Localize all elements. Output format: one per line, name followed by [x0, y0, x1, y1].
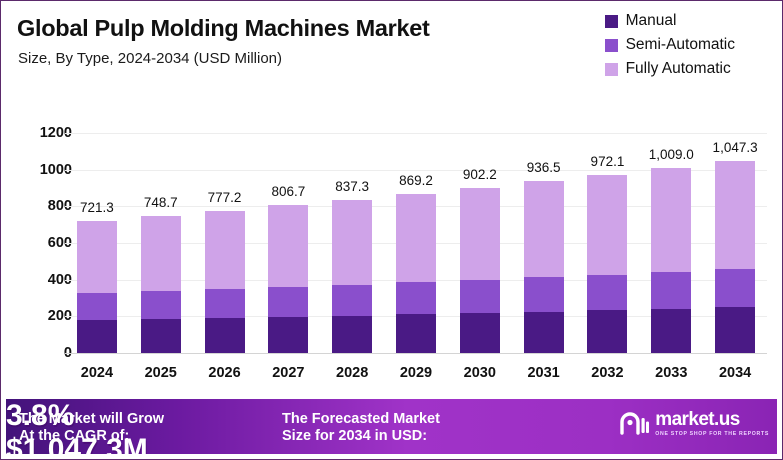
y-axis-tick-label: 800 [12, 198, 72, 214]
bar-value-label: 748.7 [144, 195, 178, 210]
y-axis-tick-label: 0 [12, 345, 72, 361]
bar-segment-manual[interactable] [651, 309, 691, 353]
legend-label-manual: Manual [626, 12, 677, 30]
bar-stack[interactable]: 806.7 [268, 205, 308, 353]
legend-item-fully-automatic: Fully Automatic [605, 57, 735, 81]
brand-logo[interactable]: market.us ONE STOP SHOP FOR THE REPORTS [619, 410, 769, 437]
bar-segment-semi-automatic[interactable] [205, 289, 245, 318]
bar-segment-semi-automatic[interactable] [587, 275, 627, 311]
y-axis-tick-label: 1000 [12, 162, 72, 178]
bar-segment-semi-automatic[interactable] [460, 280, 500, 313]
bar-segment-semi-automatic[interactable] [77, 293, 117, 320]
x-axis-tick-label: 2031 [512, 365, 576, 381]
bar-value-label: 1,047.3 [713, 140, 758, 155]
y-axis-tick-label: 600 [12, 235, 72, 251]
bar-segment-manual[interactable] [332, 316, 372, 353]
chart-plot-area: 020040060080010001200 721.3748.7777.2806… [1, 93, 783, 391]
y-axis-tick-label: 400 [12, 272, 72, 288]
legend-label-semi-automatic: Semi-Automatic [626, 36, 735, 54]
x-axis-tick-label: 2028 [320, 365, 384, 381]
bar-value-label: 721.3 [80, 200, 114, 215]
brand-tagline: ONE STOP SHOP FOR THE REPORTS [655, 431, 769, 437]
cagr-label: The Market will Grow At the CAGR of: [19, 411, 164, 444]
bar-segment-fully-automatic[interactable] [205, 211, 245, 290]
x-axis-tick-label: 2034 [703, 365, 767, 381]
x-axis-tick-label: 2024 [65, 365, 129, 381]
legend-swatch-fully-automatic [605, 63, 618, 76]
bar-value-label: 806.7 [271, 184, 305, 199]
bar-segment-semi-automatic[interactable] [524, 277, 564, 311]
bar-segment-manual[interactable] [77, 320, 117, 353]
x-axis-tick-label: 2032 [576, 365, 640, 381]
bar-segment-fully-automatic[interactable] [651, 168, 691, 272]
x-axis-tick-label: 2027 [256, 365, 320, 381]
bar-segment-semi-automatic[interactable] [332, 285, 372, 316]
chart-subtitle: Size, By Type, 2024-2034 (USD Million) [18, 50, 282, 67]
bar-stack[interactable]: 972.1 [587, 175, 627, 353]
bar-stack[interactable]: 936.5 [524, 181, 564, 353]
legend-swatch-manual [605, 15, 618, 28]
bar-segment-manual[interactable] [460, 313, 500, 353]
bar-segment-fully-automatic[interactable] [460, 188, 500, 280]
bar-segment-semi-automatic[interactable] [141, 291, 181, 319]
x-axis-tick-label: 2026 [193, 365, 257, 381]
legend-swatch-semi-automatic [605, 39, 618, 52]
bar-segment-fully-automatic[interactable] [268, 205, 308, 287]
footer-banner: The Market will Grow At the CAGR of: 3.8… [6, 399, 777, 454]
bar-segment-fully-automatic[interactable] [77, 221, 117, 293]
bar-stack[interactable]: 748.7 [141, 216, 181, 353]
bar-segment-manual[interactable] [587, 310, 627, 353]
bar-segment-manual[interactable] [268, 317, 308, 353]
bar-stack[interactable]: 869.2 [396, 194, 436, 353]
bar-segment-manual[interactable] [205, 318, 245, 353]
bar-value-label: 837.3 [335, 179, 369, 194]
x-axis-baseline [65, 353, 767, 354]
legend-item-semi-automatic: Semi-Automatic [605, 33, 735, 57]
bar-segment-semi-automatic[interactable] [651, 272, 691, 309]
forecast-label: The Forecasted Market Size for 2034 in U… [282, 411, 440, 444]
x-axis-tick-label: 2029 [384, 365, 448, 381]
y-axis-tick-label: 200 [12, 308, 72, 324]
bar-value-label: 869.2 [399, 173, 433, 188]
bar-value-label: 936.5 [527, 160, 561, 175]
brand-name: market.us [655, 410, 769, 429]
bar-segment-fully-automatic[interactable] [396, 194, 436, 283]
market-us-logo-icon [619, 411, 649, 437]
bar-stack[interactable]: 837.3 [332, 200, 372, 353]
y-axis-tick-label: 1200 [12, 125, 72, 141]
bar-segment-fully-automatic[interactable] [715, 161, 755, 269]
bar-segment-semi-automatic[interactable] [715, 269, 755, 307]
bar-stack[interactable]: 1,047.3 [715, 161, 755, 353]
grid-line [65, 133, 767, 134]
bar-stack[interactable]: 1,009.0 [651, 168, 691, 353]
bar-value-label: 777.2 [208, 190, 242, 205]
bar-stack[interactable]: 777.2 [205, 211, 245, 353]
bar-segment-fully-automatic[interactable] [587, 175, 627, 275]
x-axis-tick-label: 2033 [639, 365, 703, 381]
bar-segment-manual[interactable] [715, 307, 755, 353]
bar-value-label: 1,009.0 [649, 147, 694, 162]
x-axis-tick-label: 2025 [129, 365, 193, 381]
bar-stack[interactable]: 721.3 [77, 221, 117, 353]
bar-value-label: 972.1 [591, 154, 625, 169]
bar-segment-fully-automatic[interactable] [524, 181, 564, 277]
bar-stack[interactable]: 902.2 [460, 188, 500, 353]
x-axis-tick-label: 2030 [448, 365, 512, 381]
legend-label-fully-automatic: Fully Automatic [626, 60, 731, 78]
bar-segment-manual[interactable] [524, 312, 564, 353]
bar-value-label: 902.2 [463, 167, 497, 182]
bar-segment-semi-automatic[interactable] [268, 287, 308, 317]
bar-segment-fully-automatic[interactable] [332, 200, 372, 285]
chart-legend: Manual Semi-Automatic Fully Automatic [605, 9, 735, 81]
infographic-card: Global Pulp Molding Machines Market Size… [0, 0, 783, 460]
page-title: Global Pulp Molding Machines Market [17, 15, 430, 42]
legend-item-manual: Manual [605, 9, 735, 33]
bar-segment-semi-automatic[interactable] [396, 282, 436, 314]
bar-segment-manual[interactable] [141, 319, 181, 353]
bar-segment-fully-automatic[interactable] [141, 216, 181, 291]
bar-segment-manual[interactable] [396, 314, 436, 353]
